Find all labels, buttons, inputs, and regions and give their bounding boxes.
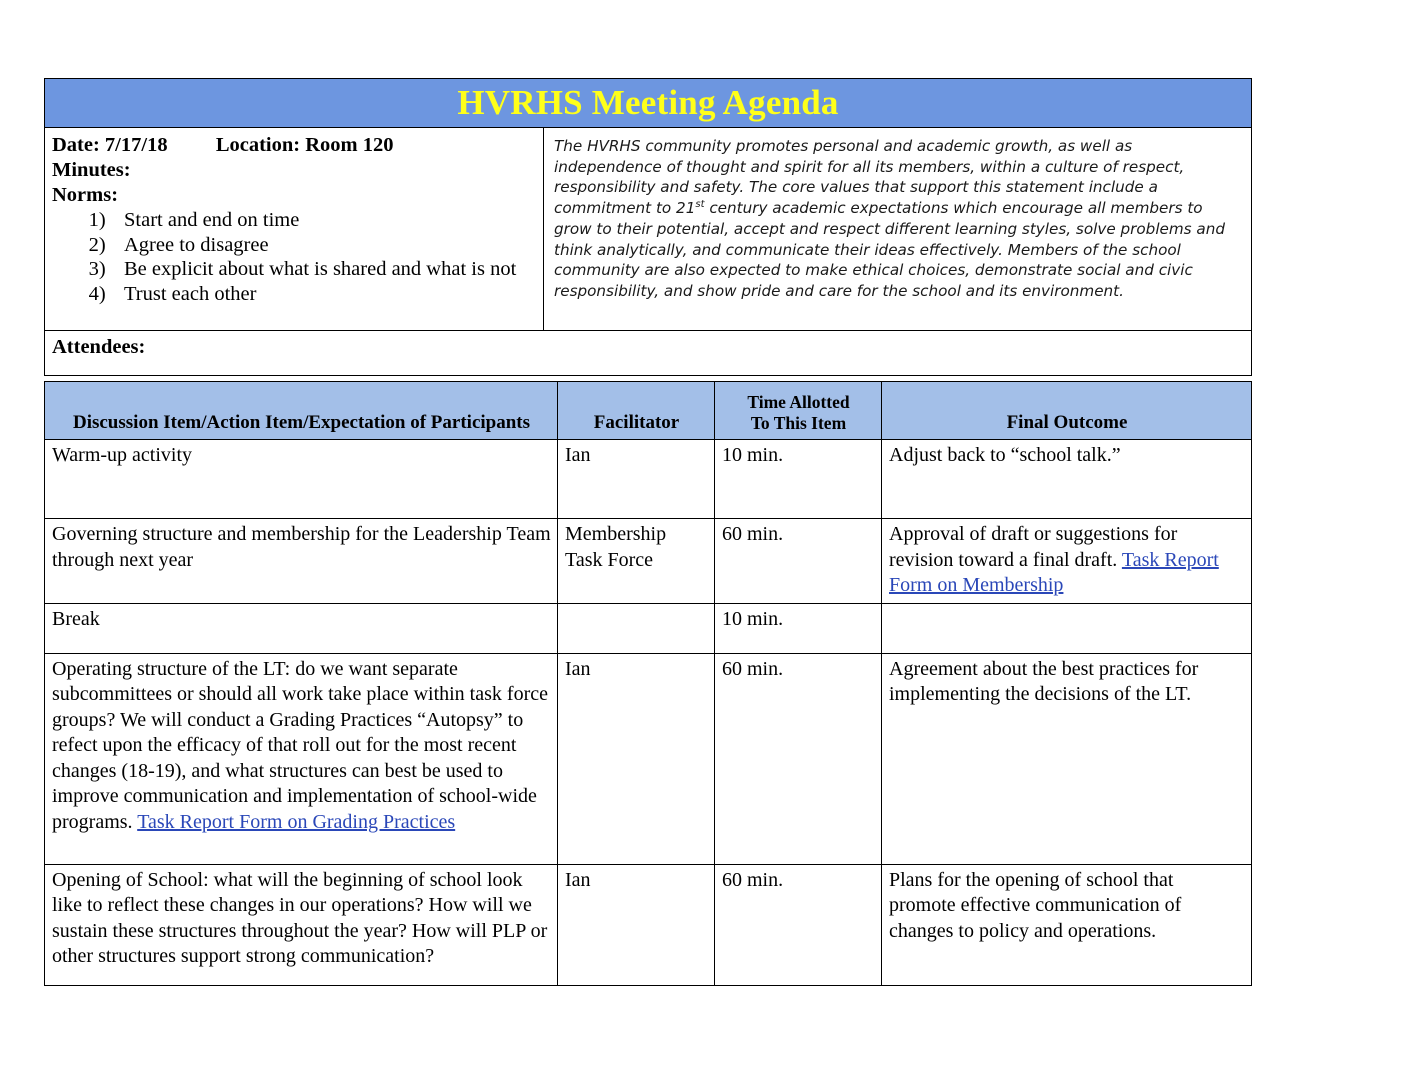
cell-discussion: Warm-up activity	[45, 440, 558, 519]
cell-facilitator: Ian	[558, 653, 715, 864]
table-row: Warm-up activity Ian 10 min. Adjust back…	[45, 440, 1252, 519]
norm-item: Agree to disagree	[116, 233, 537, 258]
meeting-meta-cell: Date: 7/17/18 Location: Room 120 Minutes…	[45, 128, 544, 330]
norms-list: Start and end on time Agree to disagree …	[52, 208, 537, 306]
cell-outcome: Agreement about the best practices for i…	[882, 653, 1252, 864]
agenda-document: HVRHS Meeting Agenda Date: 7/17/18 Locat…	[44, 78, 1252, 986]
cell-outcome: Adjust back to “school talk.”	[882, 440, 1252, 519]
location-label: Location: Room 120	[216, 134, 394, 156]
page-title: HVRHS Meeting Agenda	[457, 85, 838, 121]
cell-time: 10 min.	[715, 440, 882, 519]
norm-item: Trust each other	[116, 282, 537, 307]
mission-statement-cell: The HVRHS community promotes personal an…	[544, 128, 1251, 330]
cell-outcome: Approval of draft or suggestions for rev…	[882, 519, 1252, 604]
discussion-text: Operating structure of the LT: do we wan…	[52, 658, 548, 833]
norm-item: Start and end on time	[116, 208, 537, 233]
norms-label: Norms:	[52, 183, 537, 208]
cell-facilitator: Ian	[558, 440, 715, 519]
cell-discussion: Operating structure of the LT: do we wan…	[45, 653, 558, 864]
table-row: Break 10 min.	[45, 603, 1252, 653]
cell-discussion: Opening of School: what will the beginni…	[45, 864, 558, 985]
cell-facilitator: Ian	[558, 864, 715, 985]
mission-superscript: st	[695, 199, 704, 210]
date-location-line: Date: 7/17/18 Location: Room 120	[52, 133, 537, 158]
cell-time: 60 min.	[715, 864, 882, 985]
agenda-table-wrapper: Discussion Item/Action Item/Expectation …	[44, 381, 1252, 986]
cell-outcome: Plans for the opening of school that pro…	[882, 864, 1252, 985]
minutes-label: Minutes:	[52, 158, 537, 183]
attendees-row: Attendees:	[44, 331, 1252, 376]
attendees-label: Attendees:	[52, 336, 145, 358]
time-header-line-2: To This Item	[722, 413, 875, 434]
task-report-form-grading-practices-link[interactable]: Task Report Form on Grading Practices	[137, 811, 455, 833]
mission-statement-text: The HVRHS community promotes personal an…	[554, 136, 1239, 302]
table-row: Opening of School: what will the beginni…	[45, 864, 1252, 985]
column-header-time-allotted: Time Allotted To This Item	[715, 382, 882, 440]
agenda-table: Discussion Item/Action Item/Expectation …	[44, 381, 1252, 986]
cell-discussion: Break	[45, 603, 558, 653]
agenda-header-row: Discussion Item/Action Item/Expectation …	[45, 382, 1252, 440]
table-row: Operating structure of the LT: do we wan…	[45, 653, 1252, 864]
column-header-final-outcome: Final Outcome	[882, 382, 1252, 440]
cell-time: 10 min.	[715, 603, 882, 653]
time-header-line-1: Time Allotted	[722, 392, 875, 413]
agenda-table-head: Discussion Item/Action Item/Expectation …	[45, 382, 1252, 440]
cell-time: 60 min.	[715, 519, 882, 604]
column-header-discussion: Discussion Item/Action Item/Expectation …	[45, 382, 558, 440]
meeting-info-table: Date: 7/17/18 Location: Room 120 Minutes…	[44, 128, 1252, 331]
cell-facilitator: Membership Task Force	[558, 519, 715, 604]
table-row: Governing structure and membership for t…	[45, 519, 1252, 604]
cell-time: 60 min.	[715, 653, 882, 864]
norm-item: Be explicit about what is shared and wha…	[116, 257, 537, 282]
document-title-banner: HVRHS Meeting Agenda	[44, 78, 1252, 128]
date-label: Date: 7/17/18	[52, 134, 168, 156]
cell-discussion: Governing structure and membership for t…	[45, 519, 558, 604]
cell-outcome	[882, 603, 1252, 653]
cell-facilitator	[558, 603, 715, 653]
agenda-table-body: Warm-up activity Ian 10 min. Adjust back…	[45, 440, 1252, 986]
column-header-facilitator: Facilitator	[558, 382, 715, 440]
document-page: HVRHS Meeting Agenda Date: 7/17/18 Locat…	[0, 0, 1408, 1088]
